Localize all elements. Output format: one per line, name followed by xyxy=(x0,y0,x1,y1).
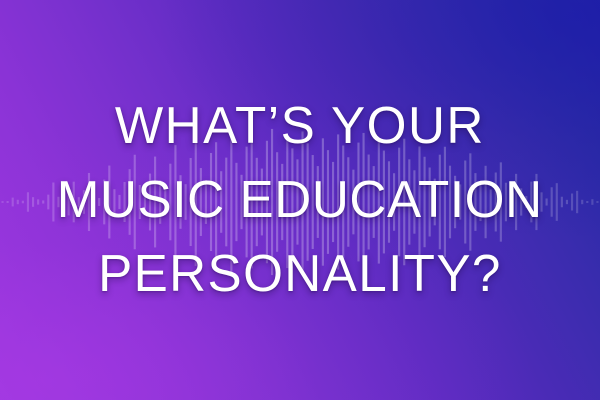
headline-line-2: MUSIC EDUCATION xyxy=(57,163,543,237)
headline-line-3: PERSONALITY? xyxy=(98,237,502,311)
headline-line-1: WHAT’S YOUR xyxy=(115,89,485,163)
headline-block: WHAT’S YOUR MUSIC EDUCATION PERSONALITY? xyxy=(0,0,600,400)
quiz-banner-graphic: WHAT’S YOUR MUSIC EDUCATION PERSONALITY? xyxy=(0,0,600,400)
